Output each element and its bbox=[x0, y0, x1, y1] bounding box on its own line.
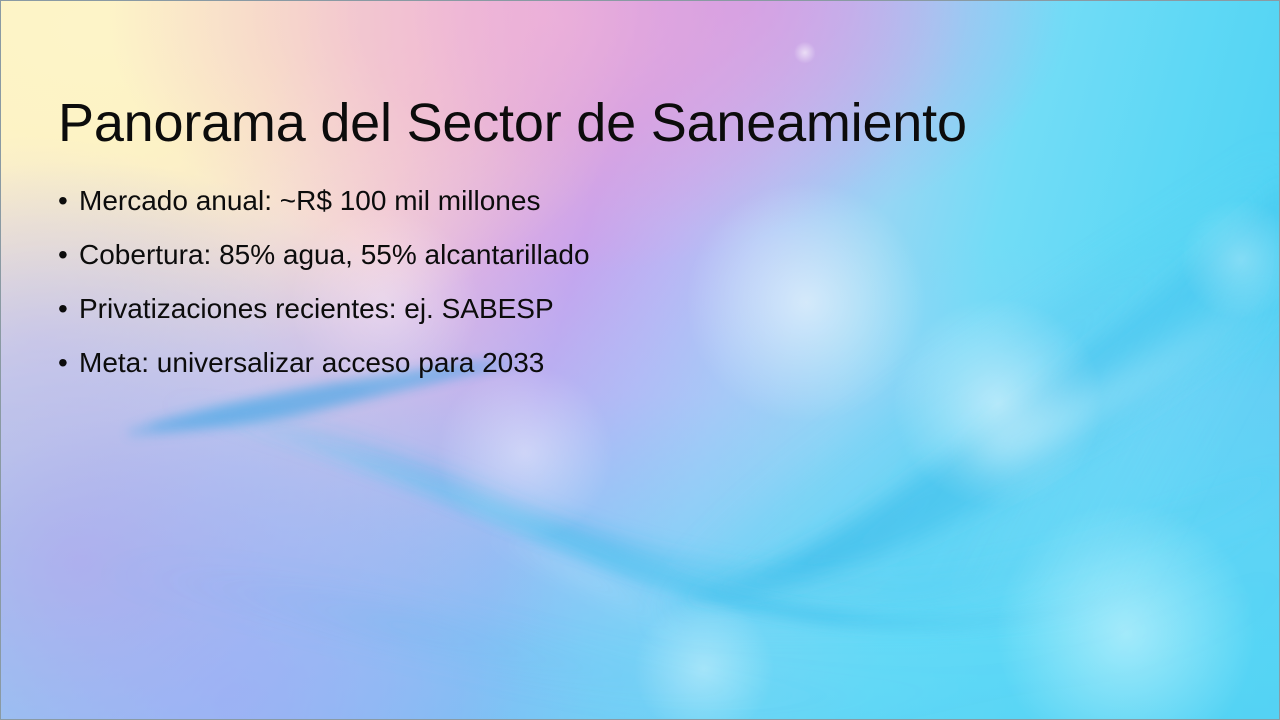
bullet-point-icon: • bbox=[58, 295, 79, 323]
bullet-point-icon: • bbox=[58, 349, 79, 377]
bullet-list: • Mercado anual: ~R$ 100 mil millones • … bbox=[58, 187, 1188, 377]
bullet-point-icon: • bbox=[58, 241, 79, 269]
presentation-slide: Panorama del Sector de Saneamiento • Mer… bbox=[0, 0, 1280, 720]
list-item-label: Privatizaciones recientes: ej. SABESP bbox=[79, 295, 554, 323]
list-item: • Privatizaciones recientes: ej. SABESP bbox=[58, 295, 1188, 323]
list-item-label: Cobertura: 85% agua, 55% alcantarillado bbox=[79, 241, 590, 269]
list-item-label: Meta: universalizar acceso para 2033 bbox=[79, 349, 544, 377]
slide-title: Panorama del Sector de Saneamiento bbox=[58, 93, 1218, 153]
list-item: • Cobertura: 85% agua, 55% alcantarillad… bbox=[58, 241, 1188, 269]
list-item: • Meta: universalizar acceso para 2033 bbox=[58, 349, 1188, 377]
slide-content: Panorama del Sector de Saneamiento • Mer… bbox=[1, 1, 1279, 719]
bullet-point-icon: • bbox=[58, 187, 79, 215]
list-item-label: Mercado anual: ~R$ 100 mil millones bbox=[79, 187, 540, 215]
list-item: • Mercado anual: ~R$ 100 mil millones bbox=[58, 187, 1188, 215]
